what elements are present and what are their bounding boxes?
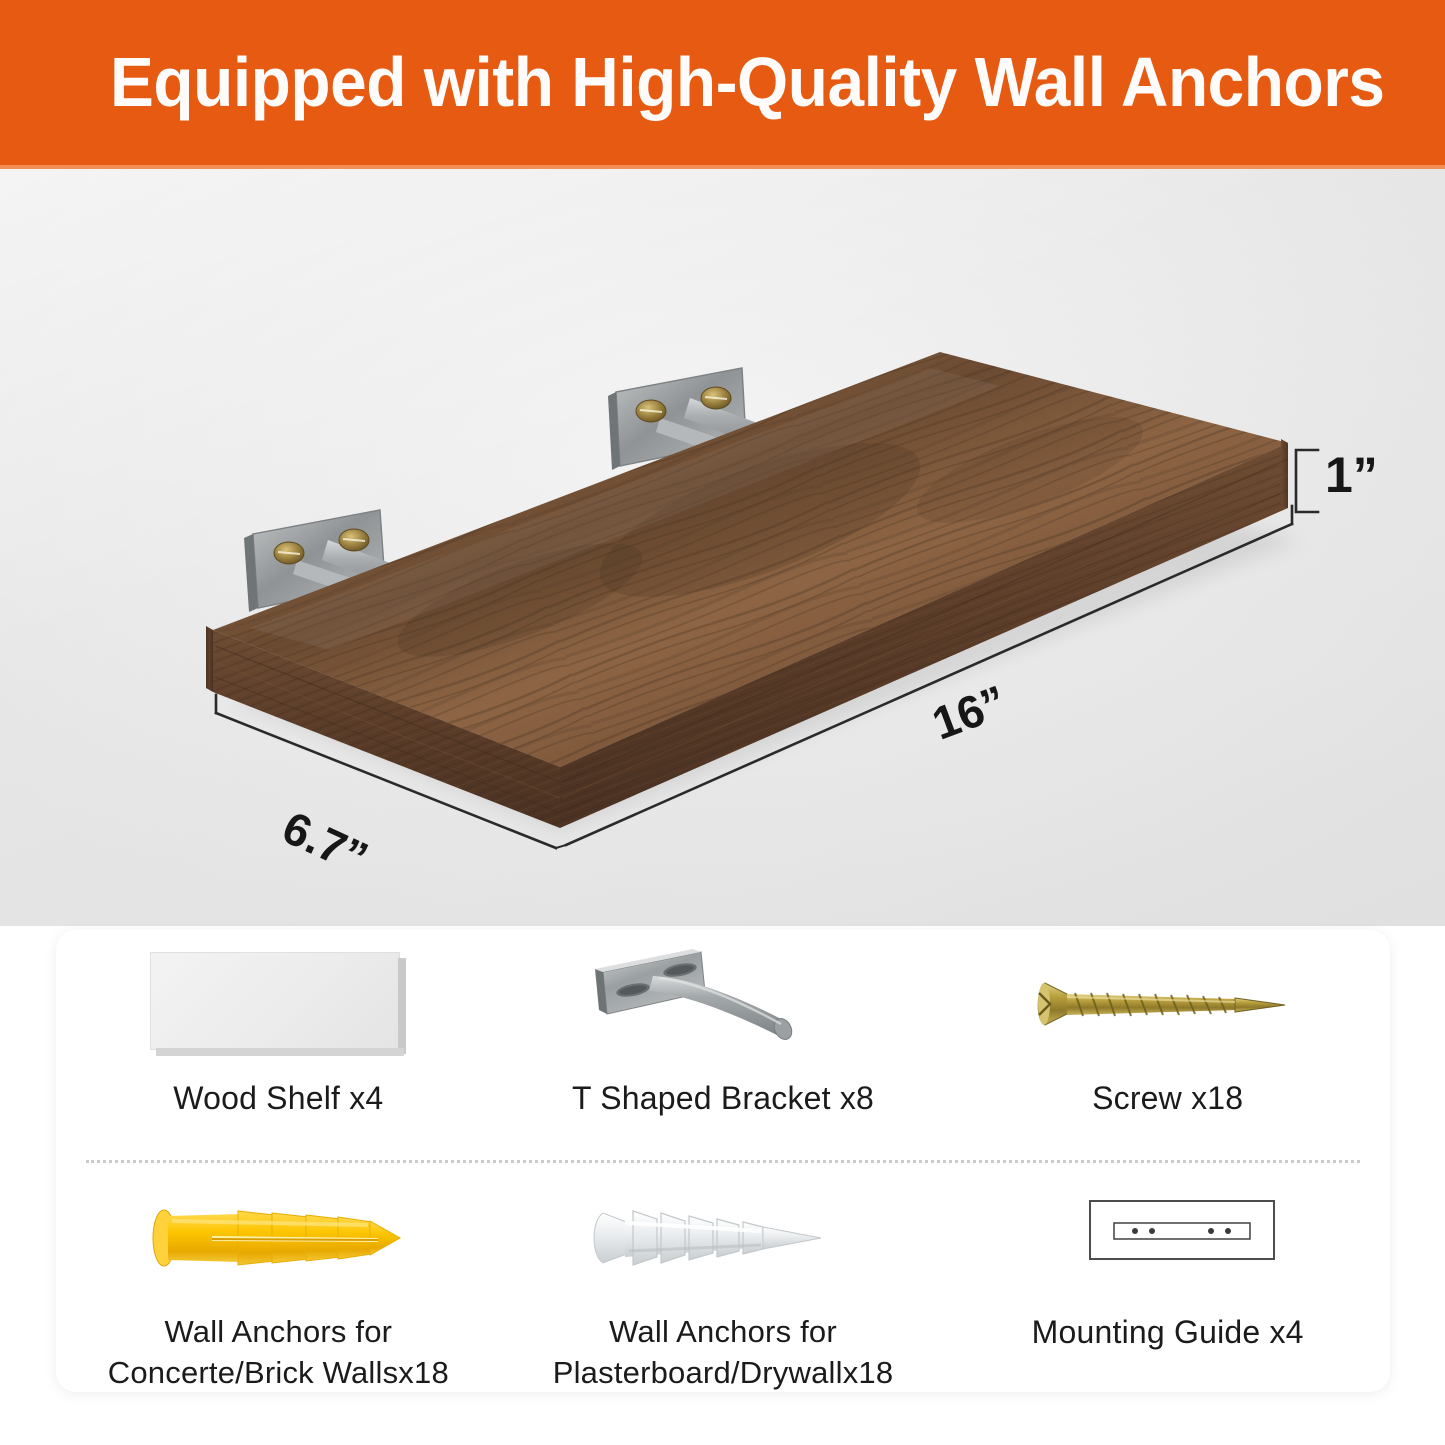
- product-infographic: Equipped with High-Quality Wall Anchors: [0, 0, 1445, 1445]
- mounting-guide-icon: [945, 1178, 1390, 1298]
- part-item-wood-shelf: Wood Shelf x4: [56, 944, 501, 1159]
- part-label-wood-shelf: Wood Shelf x4: [173, 1078, 383, 1118]
- wood-shelf-icon: [56, 944, 501, 1064]
- part-label-t-shaped-bracket: T Shaped Bracket x8: [572, 1078, 874, 1118]
- parts-row-bottom: Wall Anchors for Concerte/Brick Wallsx18: [56, 1178, 1390, 1393]
- t-shaped-bracket-icon: [501, 944, 946, 1064]
- part-item-concrete-wall-anchor: Wall Anchors for Concerte/Brick Wallsx18: [56, 1178, 501, 1393]
- dimension-tick-depth-right: [556, 845, 566, 848]
- part-label-line1: Wall Anchors for: [609, 1314, 837, 1349]
- drywall-anchor-icon: [501, 1178, 946, 1297]
- part-label-mounting-guide: Mounting Guide x4: [1032, 1312, 1304, 1352]
- part-label-concrete-wall-anchor: Wall Anchors for Concerte/Brick Wallsx18: [108, 1311, 449, 1393]
- parts-list-card: Wood Shelf x4: [56, 930, 1390, 1392]
- part-label-drywall-anchor: Wall Anchors for Plasterboard/Drywallx18: [553, 1311, 894, 1393]
- parts-row-top: Wood Shelf x4: [56, 944, 1390, 1159]
- part-item-screw: Screw x18: [945, 944, 1390, 1159]
- part-item-mounting-guide: Mounting Guide x4: [945, 1178, 1390, 1393]
- dimension-bracket-thickness: [1296, 450, 1318, 512]
- part-item-t-shaped-bracket: T Shaped Bracket x8: [501, 944, 946, 1159]
- dimension-label-thickness: 1”: [1325, 446, 1378, 504]
- screw-icon: [945, 944, 1390, 1064]
- concrete-wall-anchor-icon: [56, 1178, 501, 1297]
- part-label-line1: Wall Anchors for: [164, 1314, 392, 1349]
- part-item-drywall-anchor: Wall Anchors for Plasterboard/Drywallx18: [501, 1178, 946, 1393]
- parts-card-divider: [86, 1160, 1360, 1163]
- part-label-line2: Concerte/Brick Wallsx18: [108, 1355, 449, 1390]
- part-label-line2: Plasterboard/Drywallx18: [553, 1355, 894, 1390]
- part-label-screw: Screw x18: [1092, 1078, 1243, 1118]
